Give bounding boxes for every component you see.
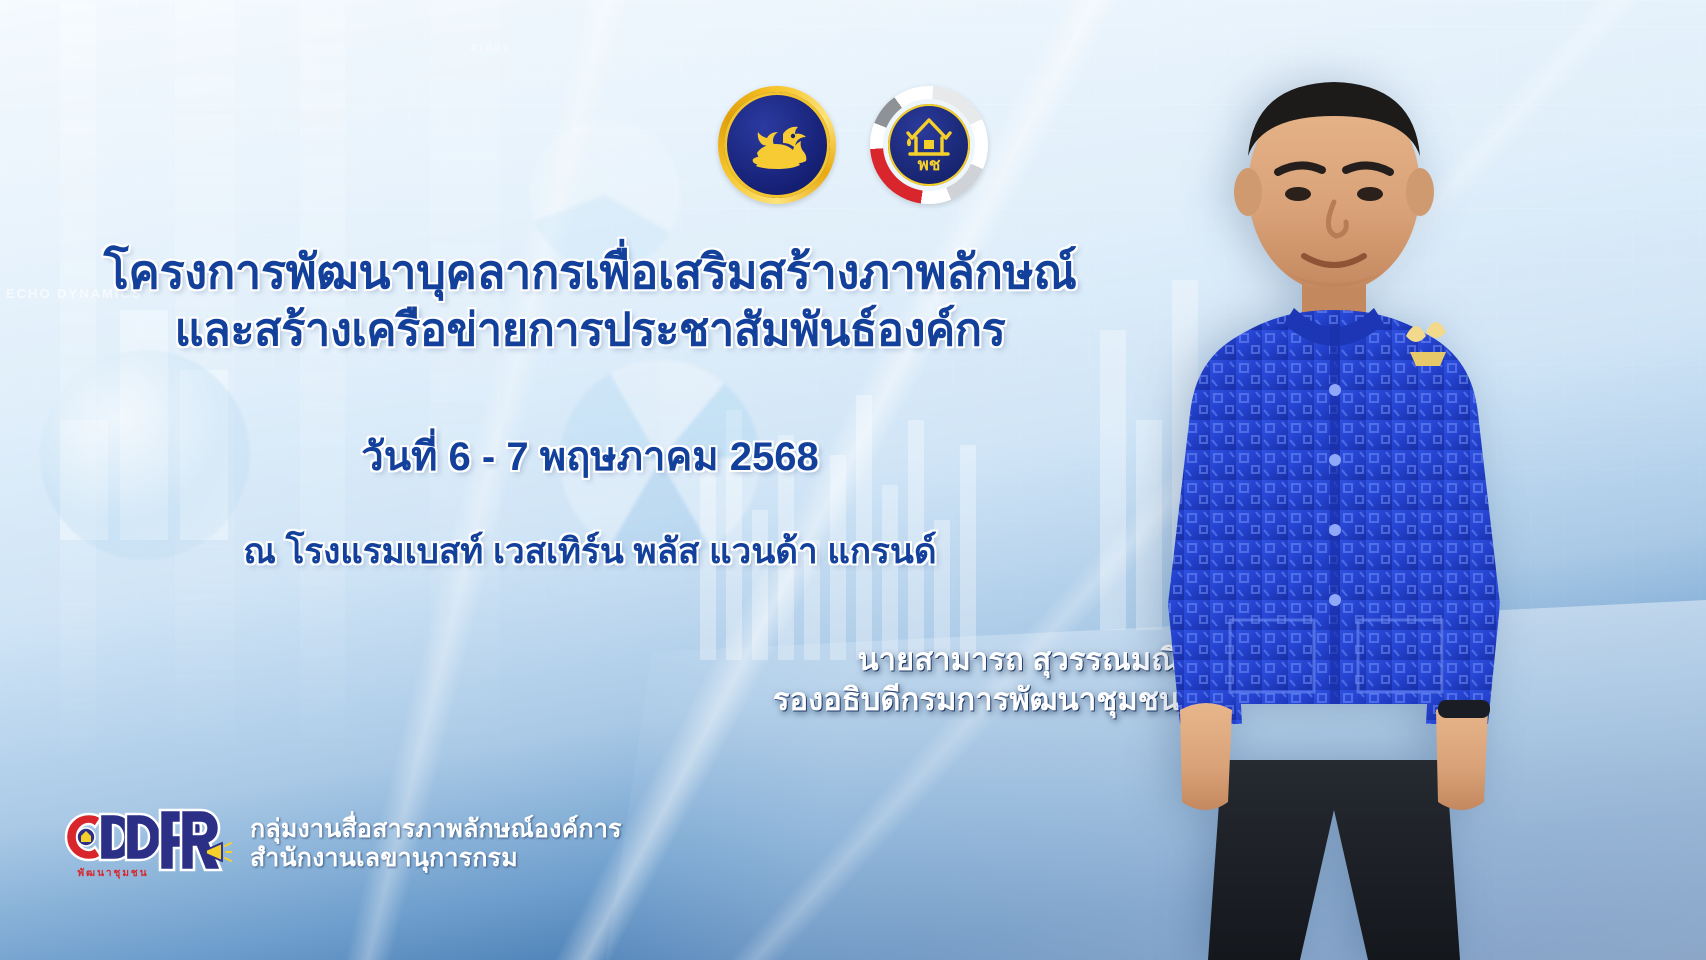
event-date: วันที่ 6 - 7 พฤษภาคม 2568 [0,424,1180,488]
megaphone-sound-waves [225,843,232,861]
event-banner: ECHO DYNAMICS 41801 [0,0,1706,960]
speaker-wristwatch [1438,700,1490,718]
event-title-line-2: และสร้างเครือข่ายการประชาสัมพันธ์องค์กร [0,303,1180,356]
singha-lion-icon [739,112,815,178]
speaker-placket [1330,326,1340,704]
thai-pavilion-icon: พช [896,112,962,178]
logo-subtitle-text: พัฒนาชุมชน [77,867,148,879]
ministry-of-interior-emblem [718,86,836,204]
speaker-right-ear [1406,168,1434,216]
cdd-pr-logo: พัฒนาชุมชน [56,802,232,886]
logo-letter-r [181,810,221,870]
footer-branding: พัฒนาชุมชน กลุ่มงานสื่อสารภาพลักษณ์องค์ก… [56,802,622,886]
speaker-left-ear [1234,168,1262,216]
event-title: โครงการพัฒนาบุคลากรเพื่อเสริมสร้างภาพลัก… [0,244,1180,357]
speaker-left-hand [1180,703,1232,810]
event-venue: ณ โรงแรมเบสท์ เวสเทิร์น พลัส แวนด้า แกรน… [0,524,1180,579]
speaker-left-eye [1285,187,1311,201]
speaker-right-eye [1357,187,1383,201]
cdd-emblem: พช [870,86,988,204]
speaker-trousers [1208,760,1460,960]
cdd-initials-text: พช [918,155,941,174]
footer-org-line-1: กลุ่มงานสื่อสารภาพลักษณ์องค์การ [250,815,622,845]
footer-org-line-2: สำนักงานเลขานุการกรม [250,844,622,874]
background-watermark-text-secondary: 41801 [470,42,511,54]
speaker-portrait-illustration [1054,60,1614,960]
logo-letter-d-2 [126,814,161,860]
footer-org-text: กลุ่มงานสื่อสารภาพลักษณ์องค์การ สำนักงาน… [250,815,622,874]
event-title-line-1: โครงการพัฒนาบุคลากรเพื่อเสริมสร้างภาพลัก… [0,244,1180,299]
cdd-emblem-core: พช [888,104,970,186]
speaker-right-hand [1436,703,1488,810]
cdd-pr-wordmark-icon: พัฒนาชุมชน [56,802,232,886]
speaker-photo [1054,60,1614,960]
